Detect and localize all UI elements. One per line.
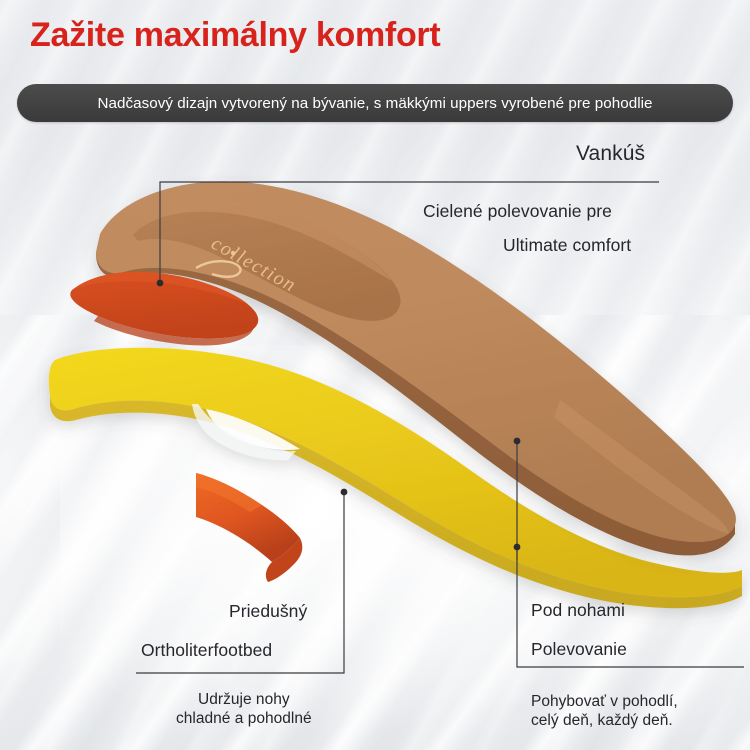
- background-glow: [60, 345, 750, 735]
- callout-breathable-footer-line2: chladné a pohodlné: [176, 709, 312, 728]
- subtitle-text: Nadčasový dizajn vytvorený na bývanie, s…: [97, 95, 652, 112]
- callout-cushion-line1: Cielené polevovanie pre: [423, 201, 612, 222]
- callout-cushion-heading: Vankúš: [576, 142, 645, 166]
- callout-breathable-line1: Priedušný: [229, 601, 307, 622]
- callout-breathable-footer-line1: Udržuje nohy: [176, 690, 312, 709]
- callout-cushion-line2: Ultimate comfort: [503, 235, 631, 256]
- callout-underfoot-footer-line2: celý deň, každý deň.: [531, 711, 678, 730]
- callout-underfoot-line2: Polevovanie: [531, 639, 627, 660]
- subtitle-banner: Nadčasový dizajn vytvorený na bývanie, s…: [17, 84, 733, 122]
- callout-underfoot-footer: Pohybovať v pohodlí, celý deň, každý deň…: [531, 692, 678, 730]
- callout-breathable-line2: Ortholiterfootbed: [141, 640, 272, 661]
- callout-underfoot-line1: Pod nohami: [531, 600, 625, 621]
- callout-underfoot-footer-line1: Pohybovať v pohodlí,: [531, 692, 678, 711]
- callout-breathable-footer: Udržuje nohy chladné a pohodlné: [176, 690, 312, 728]
- page-title: Zažite maximálny komfort: [30, 16, 440, 55]
- product-infographic: collection: [0, 0, 750, 750]
